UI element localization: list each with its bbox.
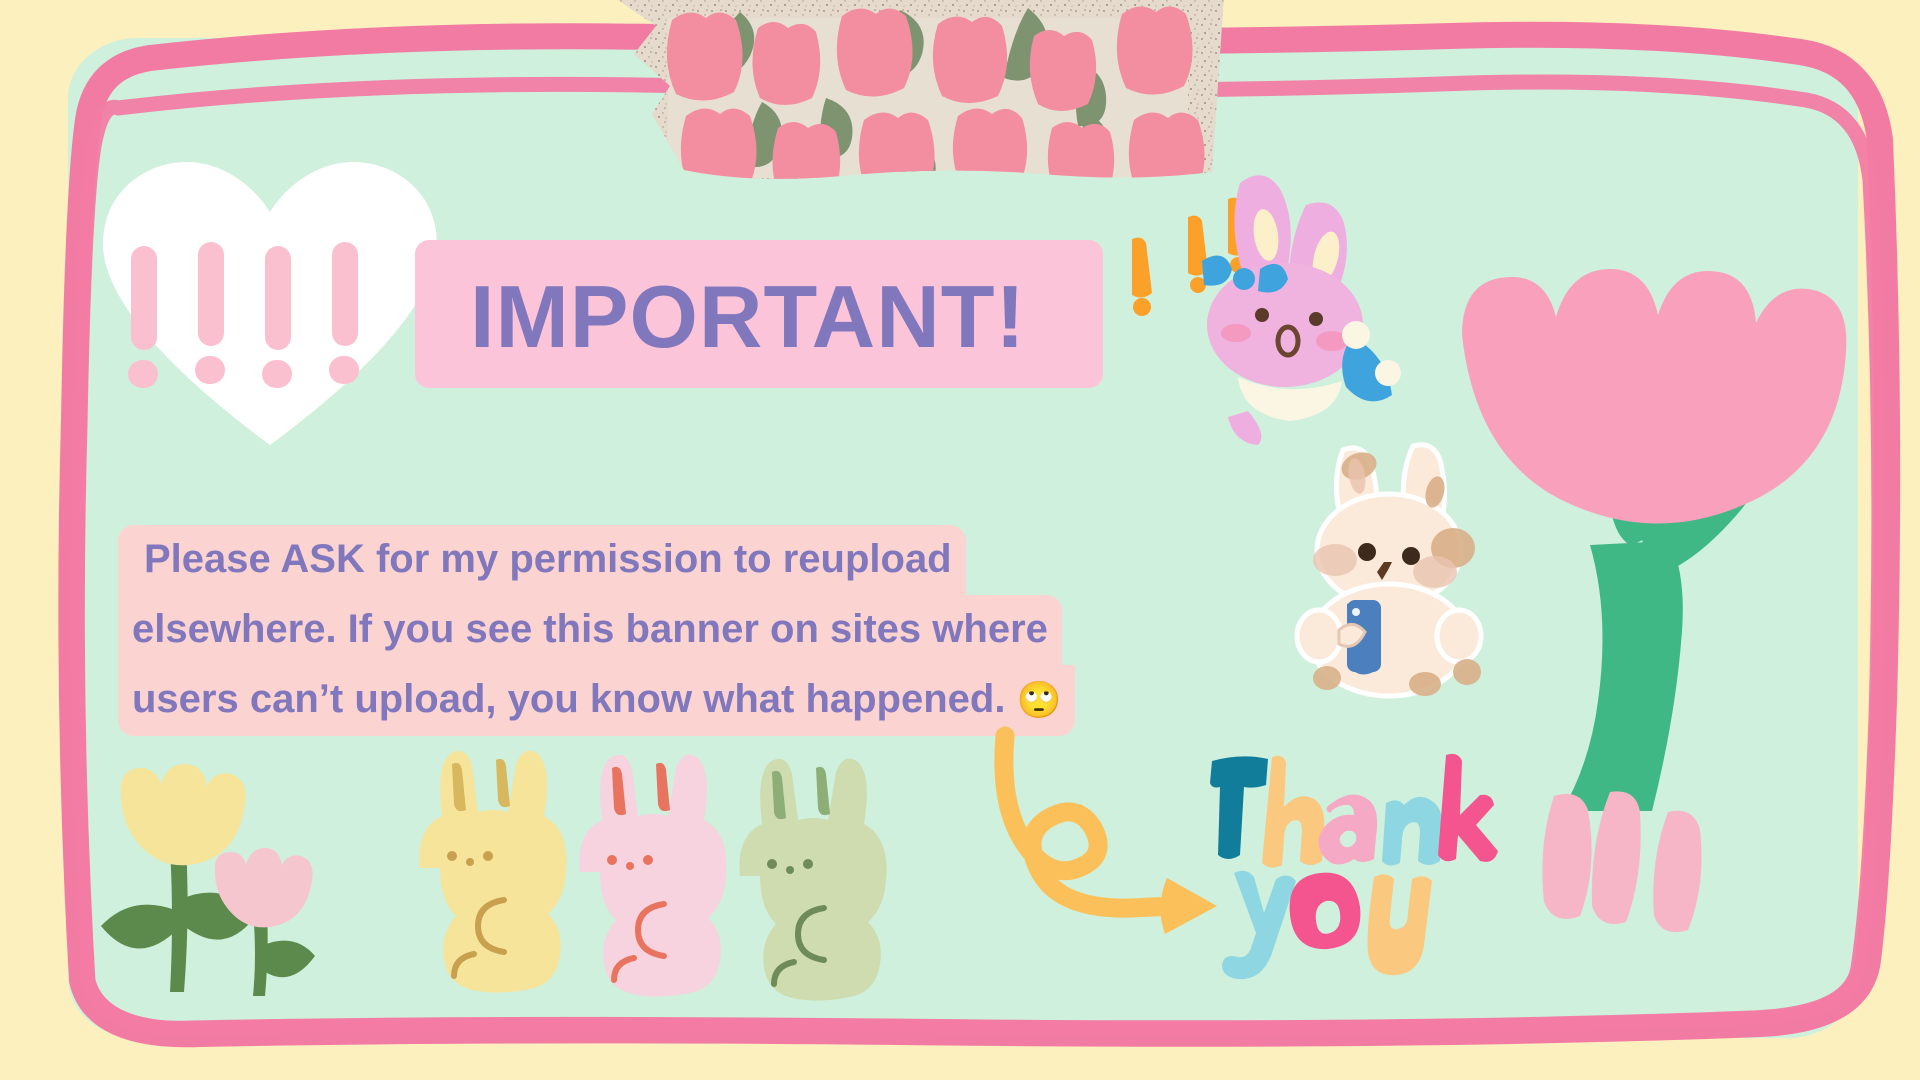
letter-h [1262, 756, 1324, 868]
candy-bunny-green [739, 759, 886, 1001]
letter-u [1368, 874, 1432, 975]
letter-a [1318, 794, 1377, 864]
banner-canvas: IMPORTANT! Please ASK for my permission … [0, 0, 1920, 1080]
big-pink-tulip [1440, 255, 1820, 815]
thank-you-lettering [1210, 755, 1510, 965]
eye-roll-emoji: 🙄 [1017, 679, 1062, 720]
letter-T [1210, 756, 1268, 859]
letter-k [1438, 754, 1498, 862]
candy-bunnies-row [400, 748, 930, 1003]
pink-petal-shapes [1510, 790, 1740, 980]
page-title: IMPORTANT! [470, 262, 1090, 372]
letter-y [1222, 871, 1296, 979]
notice-text-block: Please ASK for my permission to reupload… [118, 525, 1178, 736]
candy-bunny-pink [579, 755, 726, 997]
notice-line-3-text: users can’t upload, you know what happen… [132, 677, 1005, 721]
notice-line-2: elsewhere. If you see this banner on sit… [118, 595, 1062, 665]
letter-n [1382, 797, 1442, 866]
candy-bunny-yellow [419, 751, 566, 993]
notice-line-1: Please ASK for my permission to reupload [118, 525, 966, 595]
notice-line-3: users can’t upload, you know what happen… [118, 665, 1075, 736]
letter-o [1290, 873, 1361, 949]
pink-bunny-with-bow [1120, 165, 1410, 445]
white-heart-with-exclamations [95, 160, 445, 450]
small-tulips [95, 760, 325, 1000]
